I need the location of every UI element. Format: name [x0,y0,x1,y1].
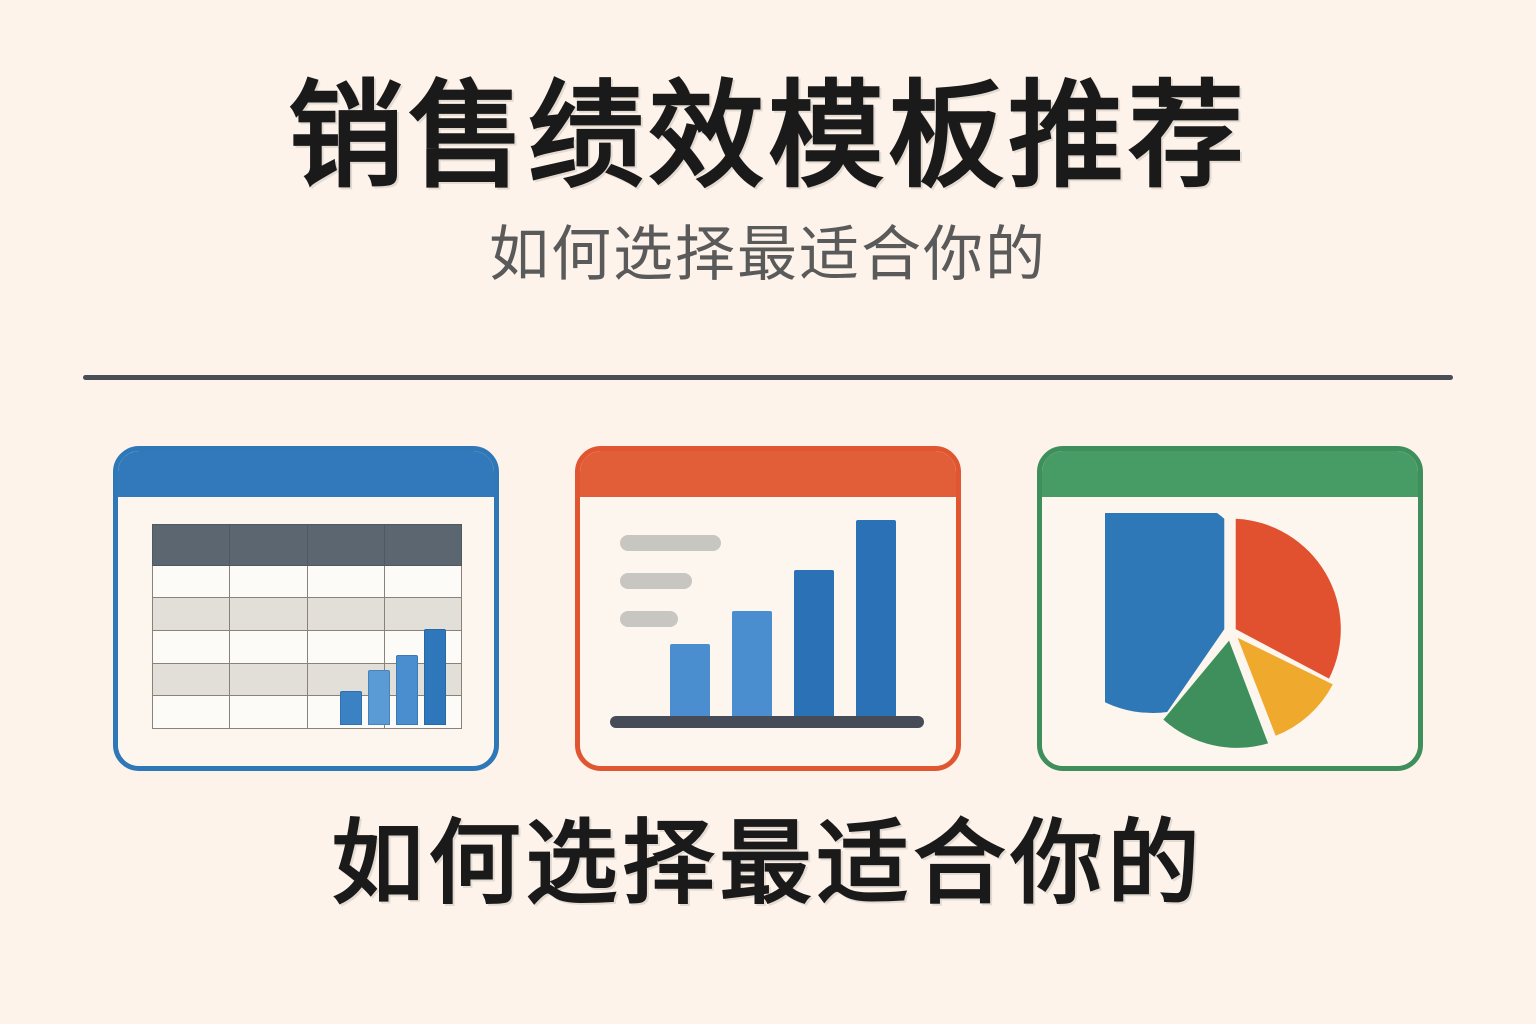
table-overlay-bars [340,629,452,725]
table-cell [384,598,461,631]
table-cell [230,598,307,631]
horizontal-divider [83,375,1453,380]
table-cell [153,598,230,631]
card-header-bar-green [1042,451,1418,497]
page-subtitle: 如何选择最适合你的 [0,202,1536,289]
card-header-bar-orange [580,451,956,497]
bar-chart-card-body [580,497,956,766]
table-cell [230,696,307,729]
template-cards-row [0,446,1536,776]
bar-1 [670,644,710,722]
bar-4 [424,629,446,725]
table-header-cell [384,525,461,566]
bar-3 [794,570,834,722]
table-row [153,565,462,598]
table-row [153,598,462,631]
table-cell [153,565,230,598]
table-cell [230,663,307,696]
pie-chart-wrapper [1042,497,1418,766]
bar-chart-template-card[interactable] [575,446,961,771]
table-cell [384,565,461,598]
table-cell [153,630,230,663]
pie-chart-template-card[interactable] [1037,446,1423,771]
table-card-body [118,497,494,766]
bar-4 [856,520,896,722]
poster-canvas: 销售绩效模板推荐 如何选择最适合你的 [0,0,1536,1024]
footer-title: 如何选择最适合你的 [0,812,1536,918]
card-header-bar-blue [118,451,494,497]
table-header-cell [230,525,307,566]
table-cell [307,598,384,631]
pie-chart-card-body [1042,497,1418,766]
pie-chart-icon [1105,513,1355,751]
header-block: 销售绩效模板推荐 如何选择最适合你的 [0,0,1536,289]
chart-baseline [610,716,924,728]
table-header-cell [307,525,384,566]
table-template-card[interactable] [113,446,499,771]
bar-2 [732,611,772,722]
table-header-row [153,525,462,566]
table-cell [230,630,307,663]
bar-3 [396,655,418,725]
table-header-cell [153,525,230,566]
page-title: 销售绩效模板推荐 [0,0,1536,202]
table-cell [230,565,307,598]
bar-chart-icon [670,520,918,722]
bar-1 [340,691,362,725]
table-cell [153,696,230,729]
bar-2 [368,670,390,725]
table-cell [307,565,384,598]
table-cell [153,663,230,696]
